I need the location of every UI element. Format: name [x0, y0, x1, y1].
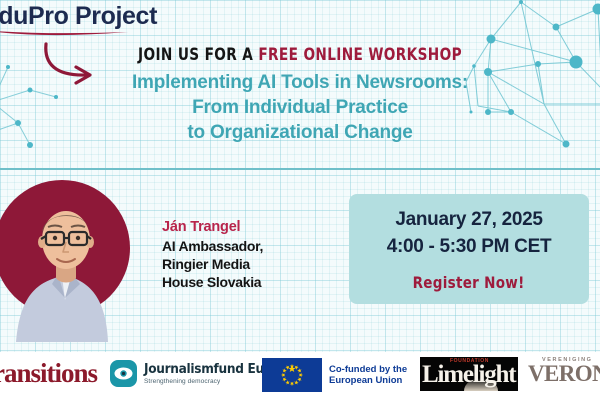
eye-icon [110, 360, 137, 387]
logo-limelight-foundation[interactable]: FOUNDATION Limelight [420, 357, 518, 391]
limelight-wordmark: Limelight [422, 361, 515, 389]
speaker-role-line-2: Ringier Media [162, 255, 312, 273]
speaker-role-line-3: House Slovakia [162, 273, 312, 291]
headline: Implementing AI Tools in Newsrooms: From… [0, 70, 600, 145]
speaker-role-line-1: AI Ambassador, [162, 237, 312, 255]
eu-flag-icon [262, 358, 322, 392]
eu-text-line-2: European Union [329, 375, 407, 387]
headline-line-3: to Organizational Change [0, 120, 600, 145]
event-details-panel: January 27, 2025 4:00 - 5:30 PM CET Regi… [349, 194, 589, 304]
kicker-text: Join us for a free online workshop [24, 45, 576, 64]
register-now-button[interactable]: Register Now! [413, 273, 525, 292]
event-time: 4:00 - 5:30 PM CET [387, 234, 552, 259]
event-date: January 27, 2025 [395, 207, 542, 232]
speaker-portrait [0, 172, 142, 342]
portrait-photo [0, 172, 142, 342]
headline-line-1: Implementing AI Tools in Newsrooms: [0, 70, 600, 95]
logo-veronica[interactable]: VERENIGING VERONICA [528, 357, 600, 386]
logo-transitions[interactable]: Transitions [0, 358, 97, 389]
eu-funding-text: Co-funded by the European Union [329, 364, 407, 387]
speaker-name: Ján Trangel [162, 218, 312, 237]
eu-text-line-1: Co-funded by the [329, 364, 407, 376]
veronica-wordmark: VERONICA [528, 362, 600, 386]
webinar-poster: EduPro Project Join us for a free online… [0, 0, 600, 400]
kicker-prefix: Join us for a [138, 45, 258, 64]
section-divider [0, 168, 600, 170]
headline-line-2: From Individual Practice [0, 95, 600, 120]
kicker-highlight: free online workshop [258, 45, 462, 64]
logo-european-union[interactable]: Co-funded by the European Union [262, 358, 407, 392]
brand-underline-swoosh [0, 25, 130, 39]
speaker-info: Ján Trangel AI Ambassador, Ringier Media… [162, 218, 312, 291]
